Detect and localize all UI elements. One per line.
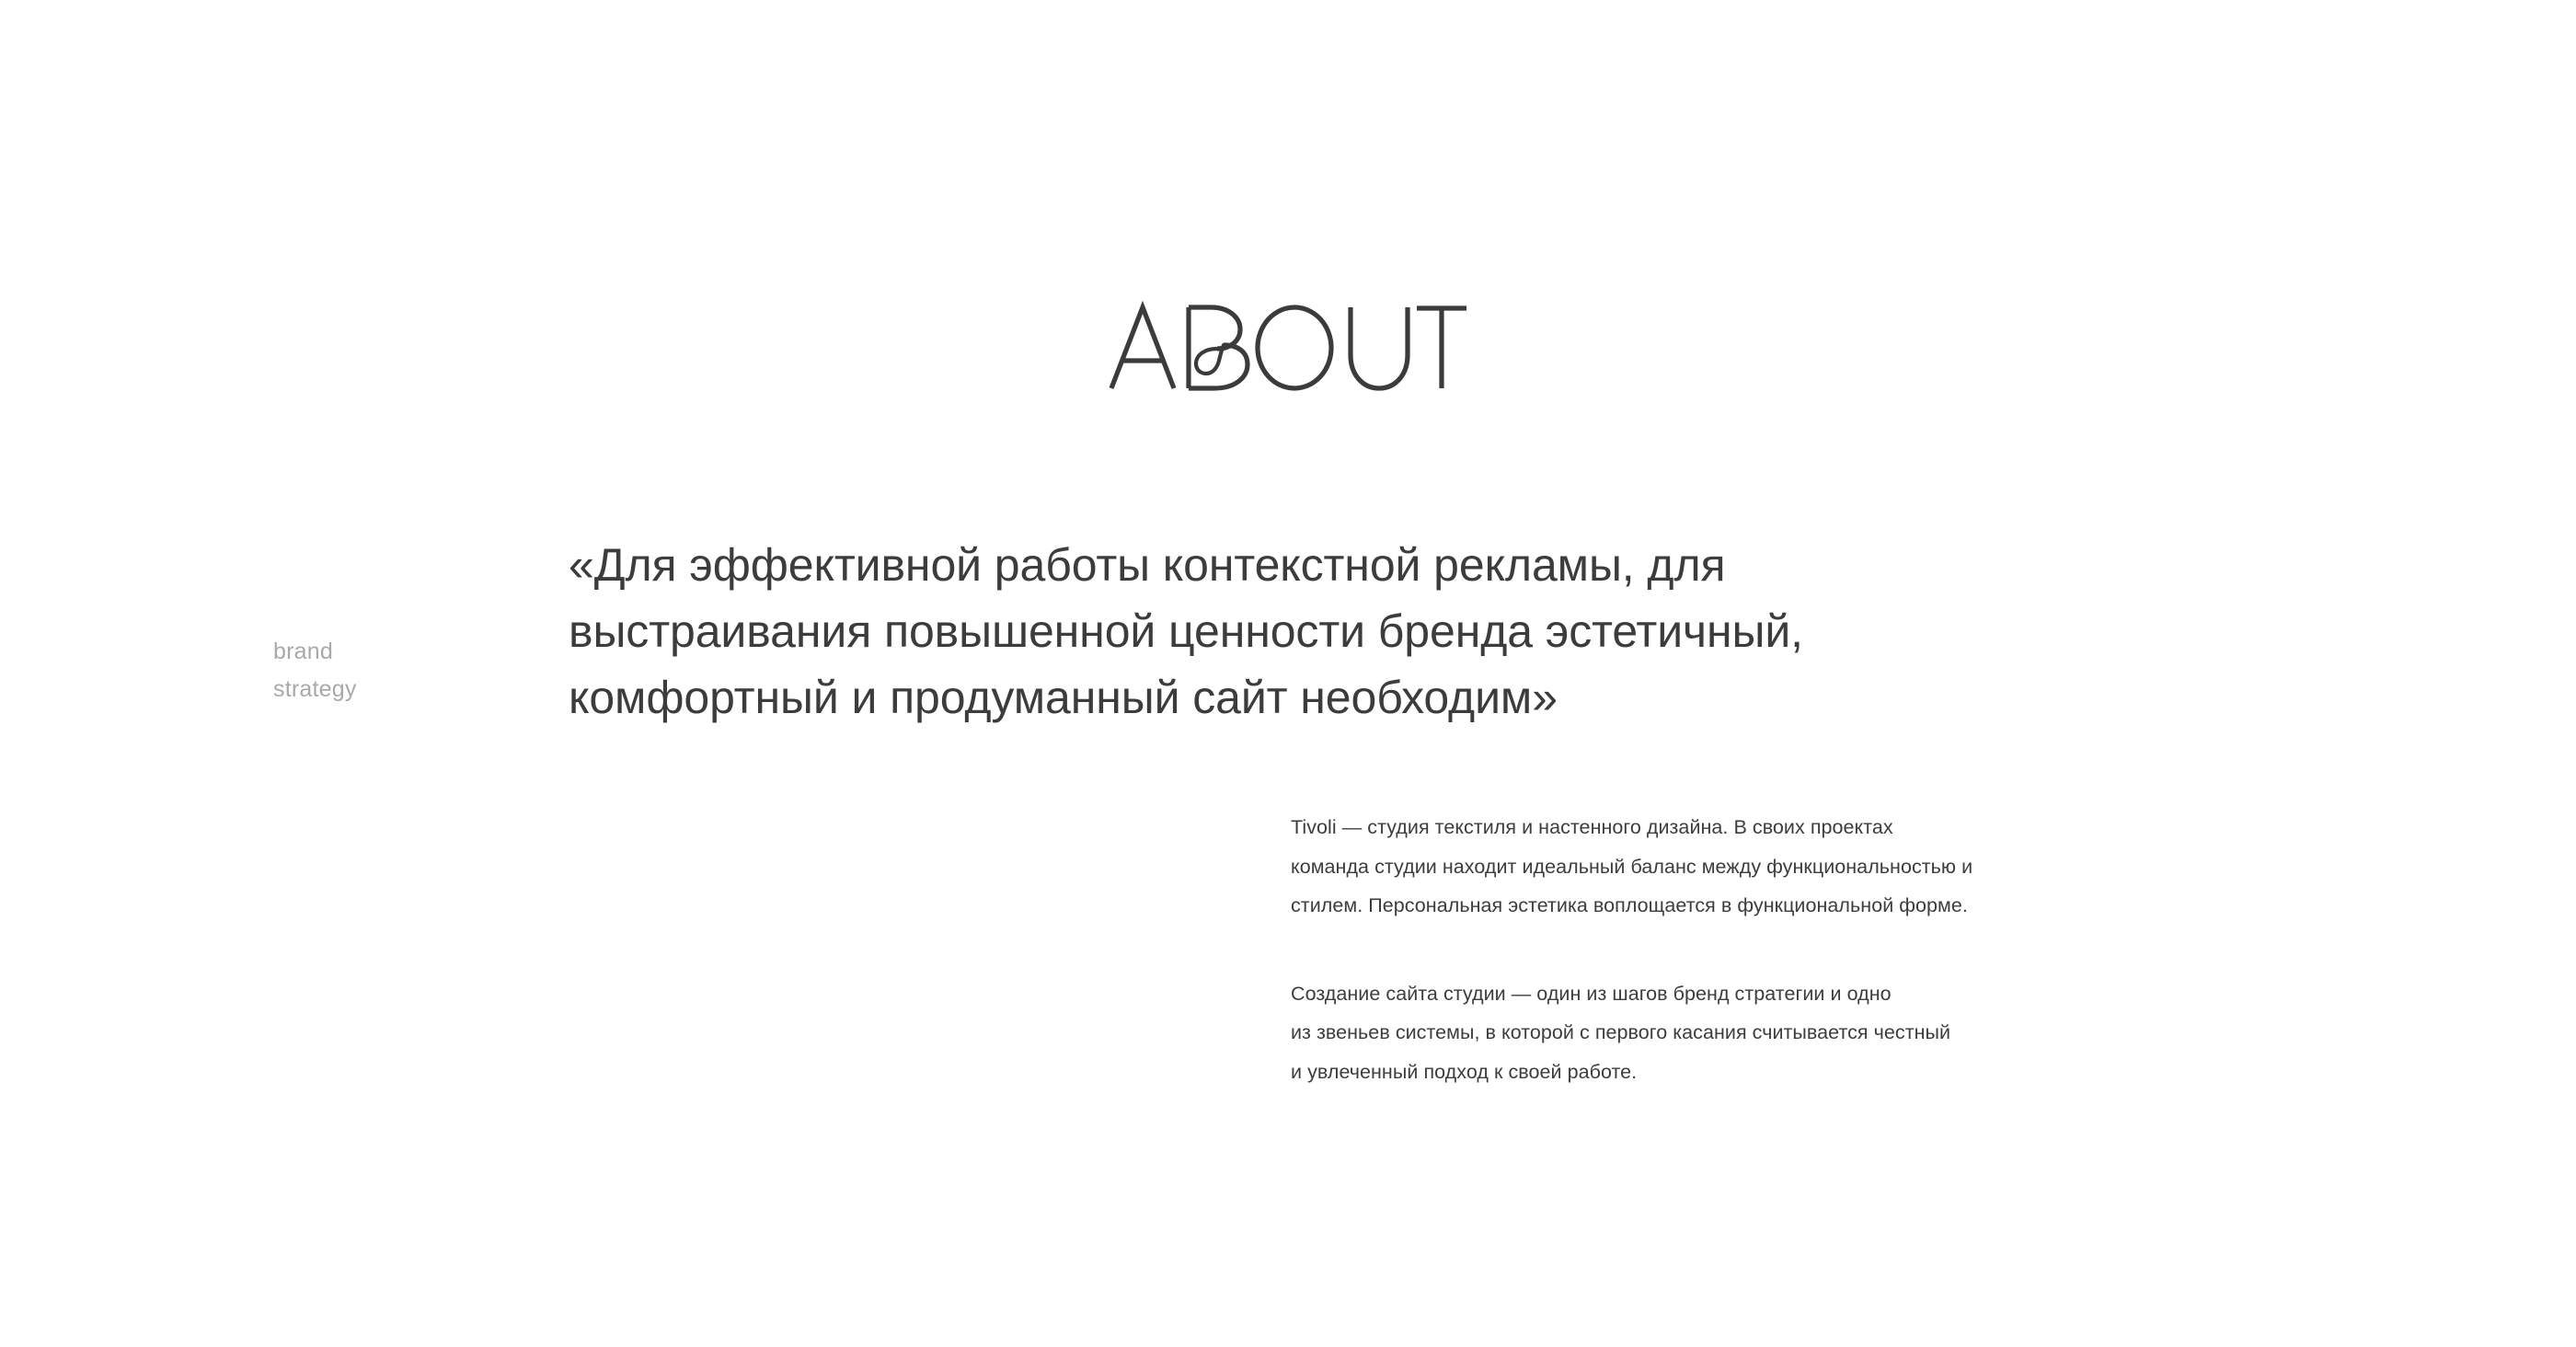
paragraph-studio-intro-line-1: Tivoli — студия текстиля и настенного ди… (1291, 808, 2330, 847)
letter-t-glyph (1417, 308, 1466, 388)
brand-strategy-tag: brand strategy (273, 633, 512, 708)
letter-b-decorative-glyph (1189, 307, 1248, 388)
pull-quote-line-1: «Для эффективной работы контекстной рекл… (569, 532, 2372, 598)
about-title-lettering (1108, 304, 1468, 392)
paragraph-brand-strategy-line-2: из звеньев системы, в которой с первого … (1291, 1013, 2330, 1053)
page-title: ABOUT (0, 293, 2576, 403)
paragraph-studio-intro: Tivoli — студия текстиля и настенного ди… (1291, 808, 2330, 926)
body-copy: Tivoli — студия текстиля и настенного ди… (1291, 808, 2330, 1091)
paragraph-brand-strategy: Создание сайта студии — один из шагов бр… (1291, 974, 2330, 1092)
pull-quote-line-3: комфортный и продуманный сайт необходим» (569, 664, 2372, 731)
letter-u-glyph (1351, 307, 1408, 388)
letter-a-glyph (1111, 307, 1174, 388)
paragraph-studio-intro-line-3: стилем. Персональная эстетика воплощаетс… (1291, 886, 2330, 926)
paragraph-brand-strategy-line-3: и увлеченный подход к своей работе. (1291, 1053, 2330, 1092)
about-slide: ABOUT brand strategy «Для эффективной ра… (0, 0, 2576, 1347)
brand-strategy-tag-line-1: brand (273, 633, 512, 671)
paragraph-studio-intro-line-2: команда студии находит идеальный баланс … (1291, 847, 2330, 887)
pull-quote-line-2: выстраивания повышенной ценности бренда … (569, 598, 2372, 664)
letter-o-glyph (1258, 307, 1331, 388)
paragraph-brand-strategy-line-1: Создание сайта студии — один из шагов бр… (1291, 974, 2330, 1014)
pull-quote: «Для эффективной работы контекстной рекл… (569, 532, 2372, 731)
brand-strategy-tag-line-2: strategy (273, 671, 512, 708)
